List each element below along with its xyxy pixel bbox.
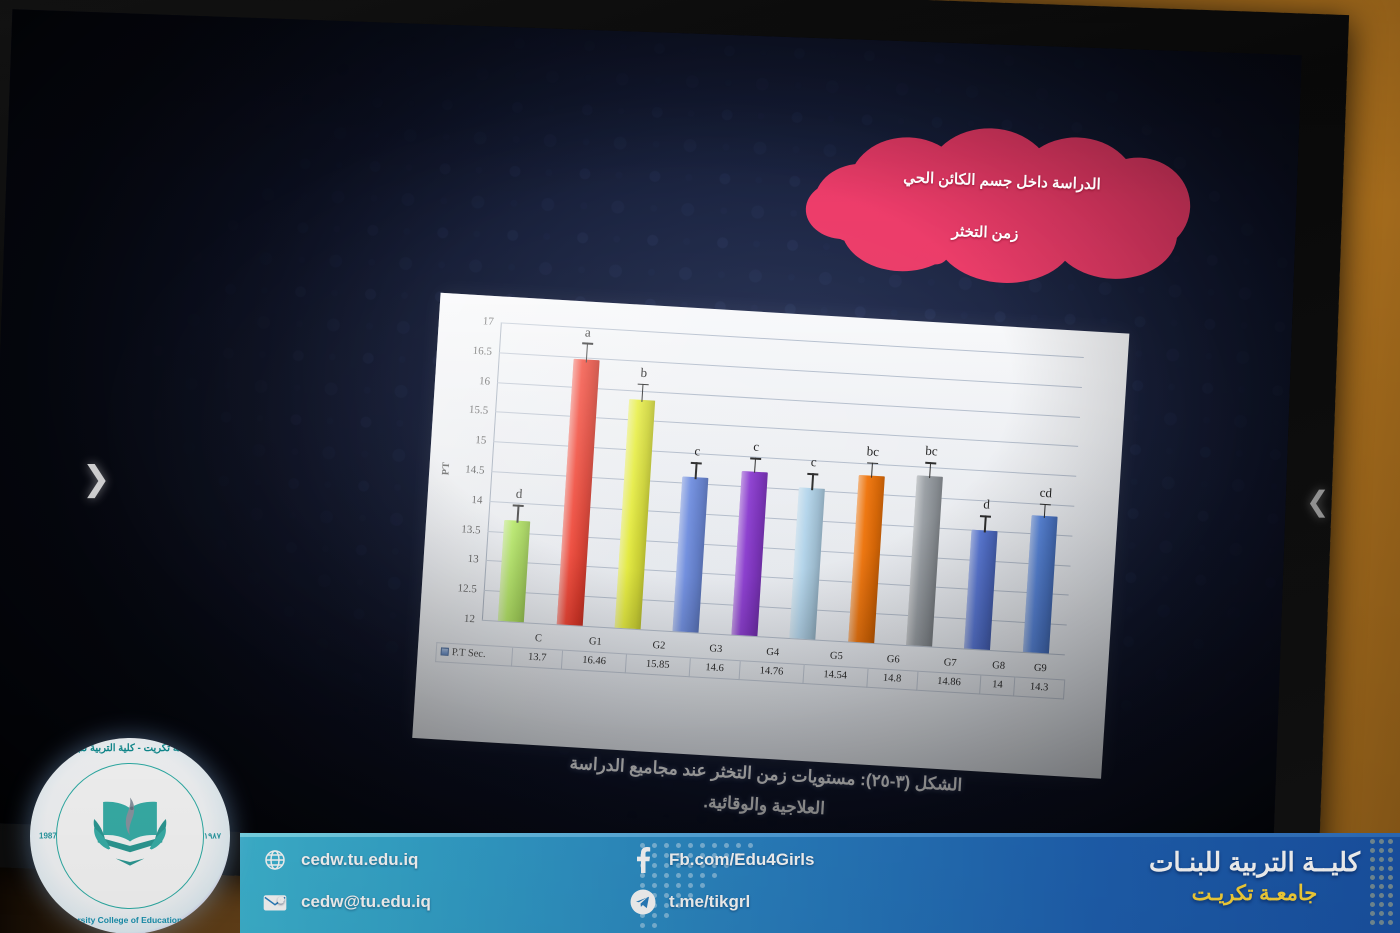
decorative-dot (1379, 893, 1384, 898)
decorative-dot (1379, 920, 1384, 925)
y-axis-tick-label: 12.5 (457, 582, 477, 595)
decorative-dot (1388, 866, 1393, 871)
decorative-dot (1388, 839, 1393, 844)
table-cell-value: 16.46 (562, 650, 627, 673)
decorative-dot (1379, 875, 1384, 880)
contact-email[interactable]: @ cedw@tu.edu.iq (262, 889, 431, 915)
decorative-dot (1388, 875, 1393, 880)
series-legend-label: P.T Sec. (451, 647, 486, 660)
contact-email-text: cedw@tu.edu.iq (301, 892, 431, 912)
social-list: Fb.com/Edu4Girls t.me/tikgrl (630, 847, 814, 915)
significance-letter: c (694, 443, 701, 459)
callout-line-1: الدراسة داخل جسم الكائن الحي (903, 168, 1101, 193)
decorative-dot (1370, 920, 1375, 925)
decorative-dot (1379, 848, 1384, 853)
error-bar-cap (980, 516, 991, 518)
thought-cloud-callout: الدراسة داخل جسم الكائن الحي زمن التخثر (803, 120, 1198, 294)
decorative-dot (1388, 857, 1393, 862)
logo-arabic-ring-text: جامعة تكريت - كلية التربية للبنات (30, 743, 230, 754)
decorative-dot (1370, 866, 1375, 871)
bar (790, 487, 826, 640)
bar (906, 475, 943, 647)
decorative-dot (1388, 920, 1393, 925)
contact-website-text: cedw.tu.edu.iq (301, 850, 418, 870)
decorative-dot (1370, 911, 1375, 916)
table-cell-value: 14.76 (739, 660, 804, 683)
error-bar-cap (867, 462, 878, 464)
error-bar-cap (750, 458, 761, 460)
display-screen-surface: الدراسة داخل جسم الكائن الحي زمن التخثر … (0, 9, 1302, 869)
chart-panel: PT 1716.51615.51514.51413.51312.512 dabc… (412, 293, 1129, 779)
error-bar-cap (582, 343, 593, 345)
social-facebook-text: Fb.com/Edu4Girls (669, 850, 814, 870)
decorative-dot (1388, 884, 1393, 889)
bar (556, 359, 599, 626)
banner-dot-pattern-right (1370, 839, 1396, 931)
table-cell-value: 14.54 (803, 664, 868, 687)
decorative-dot (1370, 902, 1375, 907)
decorative-dot (1370, 875, 1375, 880)
bar (615, 399, 656, 630)
error-bar-cap (925, 462, 936, 464)
table-cell-value: 14.8 (866, 668, 917, 690)
decorative-dot (1370, 893, 1375, 898)
facebook-icon (630, 847, 656, 873)
bar (964, 529, 998, 649)
university-logo: جامعة تكريت - كلية التربية للبنات Tikrit… (30, 738, 230, 933)
decorative-dot (1388, 911, 1393, 916)
bar (848, 475, 885, 643)
table-cell-value: 15.85 (625, 653, 690, 676)
y-axis-tick-label: 16 (479, 375, 491, 388)
social-telegram[interactable]: t.me/tikgrl (630, 889, 814, 915)
logo-year-latin: 1987 (39, 832, 57, 841)
institution-banner: cedw.tu.edu.iq @ cedw@tu.edu.iq Fb.com/E… (240, 833, 1400, 933)
y-axis-tick-label: 13 (467, 553, 479, 566)
table-cell-value: 14.3 (1013, 676, 1064, 698)
decorative-dot (1370, 839, 1375, 844)
bar (673, 476, 709, 632)
significance-letter: cd (1039, 485, 1052, 502)
logo-english-ring-text: Tikrit University College of Education f… (30, 915, 230, 925)
social-facebook[interactable]: Fb.com/Edu4Girls (630, 847, 814, 873)
table-cell-value: 14 (980, 674, 1014, 695)
significance-letter: bc (866, 443, 879, 460)
telegram-icon (630, 889, 656, 915)
logo-emblem-book-and-laurel (76, 785, 184, 871)
table-cell-category: G8 (981, 656, 1015, 677)
callout-line-2: زمن التخثر (952, 222, 1019, 242)
legend-swatch-icon (441, 647, 449, 655)
significance-letter: a (585, 324, 592, 340)
bar (498, 520, 530, 623)
plot-area: PT 1716.51615.51514.51413.51312.512 dabc… (482, 322, 1084, 654)
significance-letter: d (515, 486, 523, 502)
globe-icon (262, 847, 288, 873)
significance-letter: d (983, 497, 991, 513)
envelope-icon: @ (262, 889, 288, 915)
error-bar-cap (513, 505, 524, 507)
significance-letter: c (753, 439, 760, 455)
decorative-dot (1370, 857, 1375, 862)
error-bar-cap (691, 462, 702, 464)
error-bar-cap (807, 473, 818, 475)
decorative-dot (1379, 839, 1384, 844)
series-legend-cell: P.T Sec. (436, 642, 513, 665)
table-cell-value: 14.86 (916, 671, 981, 694)
university-name: جامعـة تكريـت (1149, 881, 1360, 906)
bars-layer: dabcccbcbcdcd (501, 322, 1084, 357)
y-axis-tick-label: 15 (475, 434, 487, 447)
decorative-dot (1379, 911, 1384, 916)
banner-top-accent-line (240, 833, 1400, 837)
table-cell-value: 13.7 (512, 647, 563, 669)
contact-website[interactable]: cedw.tu.edu.iq (262, 847, 431, 873)
significance-letter: b (640, 365, 648, 381)
contact-list: cedw.tu.edu.iq @ cedw@tu.edu.iq (262, 847, 431, 915)
decorative-dot (1379, 884, 1384, 889)
y-axis-title: PT (440, 461, 452, 475)
y-axis-tick-label: 13.5 (461, 523, 481, 536)
error-bar-cap (1040, 504, 1051, 506)
decorative-dot (1388, 902, 1393, 907)
college-name: كليــة التربية للبنـات (1149, 847, 1360, 878)
bar (731, 470, 767, 636)
university-identity: كليــة التربية للبنـات جامعـة تكريـت (1149, 847, 1360, 906)
social-telegram-text: t.me/tikgrl (669, 892, 750, 912)
significance-letter: c (810, 454, 817, 470)
decorative-dot (1370, 848, 1375, 853)
decorative-dot (1379, 866, 1384, 871)
logo-year-arabic: ١٩٨٧ (204, 832, 221, 841)
chevron-left-icon[interactable]: ❮ (1306, 488, 1329, 516)
decorative-dot (1379, 902, 1384, 907)
decorative-dot (1388, 848, 1393, 853)
y-axis-tick-label: 16.5 (472, 345, 492, 358)
decorative-dot (1370, 884, 1375, 889)
y-axis-tick-label: 15.5 (469, 404, 489, 417)
decorative-dot (640, 923, 645, 928)
y-axis-tick-label: 17 (482, 315, 494, 328)
presentation-slide: الدراسة داخل جسم الكائن الحي زمن التخثر … (0, 9, 1302, 869)
y-axis-tick-label: 14 (471, 494, 483, 507)
svg-text:@: @ (278, 897, 284, 904)
chevron-right-icon[interactable]: ❯ (82, 462, 111, 496)
decorative-dot (1388, 893, 1393, 898)
significance-letter: bc (925, 443, 938, 460)
error-bar-cap (638, 384, 649, 386)
y-axis-tick-label: 12 (464, 613, 476, 626)
decorative-dot (1379, 857, 1384, 862)
bar (1023, 515, 1058, 653)
table-cell-value: 14.6 (689, 657, 740, 679)
decorative-dot (652, 923, 657, 928)
y-axis-tick-label: 14.5 (465, 464, 485, 477)
